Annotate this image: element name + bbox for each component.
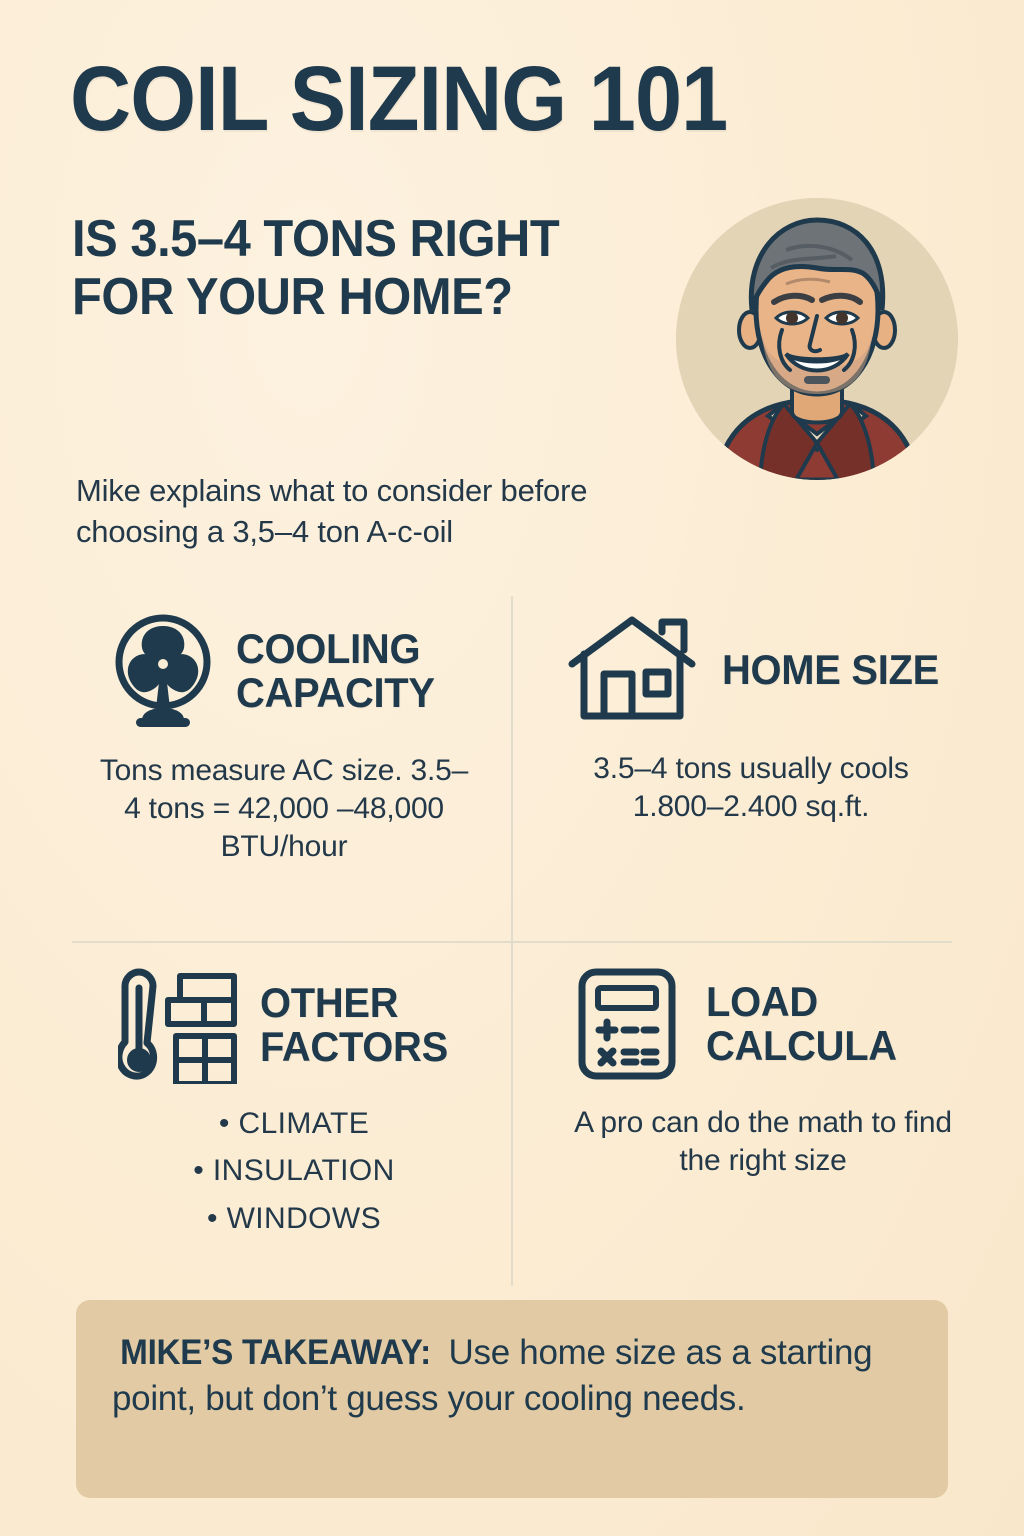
quadrant-load-calculation: LOAD CALCULA A pro can do the math to fi… xyxy=(576,966,976,1180)
list-item: • WINDOWS xyxy=(114,1195,474,1242)
quadrant-body: 3.5–4 tons usually cools 1.800–2.400 sq.… xyxy=(544,750,958,826)
quadrant-home-size: HOME SIZE 3.5–4 tons usually cools 1.800… xyxy=(566,612,966,826)
horizontal-divider xyxy=(72,941,952,943)
list-item: • CLIMATE xyxy=(114,1100,474,1147)
intro-text: Mike explains what to consider before ch… xyxy=(76,470,696,552)
quadrant-header: COOLING CAPACITY xyxy=(108,612,488,730)
quadrant-body: Tons measure AC size. 3.5–4 tons = 42,00… xyxy=(94,752,474,865)
other-factors-list: • CLIMATE • INSULATION • WINDOWS xyxy=(114,1100,474,1242)
quadrant-header: LOAD CALCULA xyxy=(576,966,976,1082)
quadrant-title: LOAD CALCULA xyxy=(706,980,963,1067)
quadrant-header: HOME SIZE xyxy=(566,612,966,728)
takeaway-label: MIKE’S TAKEAWAY: xyxy=(120,1330,431,1376)
house-icon xyxy=(566,612,704,728)
quadrant-header: OTHER FACTORS xyxy=(118,966,498,1084)
takeaway-box: MIKE’S TAKEAWAY: Use home size as a star… xyxy=(76,1300,948,1498)
infographic-page: COIL SIZING 101 IS 3.5–4 TONS RIGHT FOR … xyxy=(0,0,1024,1536)
list-item: • INSULATION xyxy=(114,1147,474,1194)
thermometer-insulation-window-icon xyxy=(118,966,242,1084)
quadrant-title: COOLING CAPACITY xyxy=(236,627,475,714)
quadrant-cooling-capacity: COOLING CAPACITY Tons measure AC size. 3… xyxy=(108,612,488,865)
page-title: COIL SIZING 101 xyxy=(70,56,727,143)
mike-portrait-avatar xyxy=(676,198,958,480)
fan-icon xyxy=(108,612,218,730)
page-subtitle: IS 3.5–4 TONS RIGHT FOR YOUR HOME? xyxy=(72,210,598,326)
quadrant-title: OTHER FACTORS xyxy=(260,981,486,1068)
takeaway-text: MIKE’S TAKEAWAY: Use home size as a star… xyxy=(112,1330,912,1421)
quadrant-title: HOME SIZE xyxy=(722,648,939,692)
quadrant-other-factors: OTHER FACTORS • CLIMATE • INSULATION • W… xyxy=(118,966,498,1242)
quadrant-body: A pro can do the math to find the right … xyxy=(558,1104,968,1180)
calculator-icon xyxy=(576,966,688,1082)
